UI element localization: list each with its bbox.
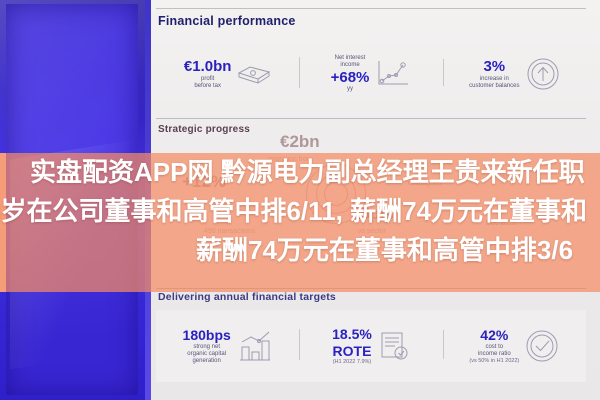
metric-label-2: income ratio [469,351,519,358]
metric-value: €1.0bn [184,58,232,76]
banknotes-icon [237,62,271,86]
metric-row-annual: 180bps strong net organic capital genera… [156,310,586,382]
metric-text: 18.5% ROTE (H1 2022 7.9%) [332,326,372,366]
metric-value: 180bps [183,327,231,344]
metric-value-2: ROTE [332,343,372,360]
metric-text: 180bps strong net organic capital genera… [183,327,231,365]
report-icon [378,330,410,362]
metric-net-interest-income: Net interest income +68% yy [299,55,442,94]
metric-label-2: customer balances [469,83,519,90]
line-chart-icon [375,59,411,89]
metric-note: (H1 2022 7.9%) [332,359,372,365]
metric-label-2: organic capital [183,351,231,358]
metric-label-1: strong net [183,344,231,351]
section-title-annual-targets: Delivering annual financial targets [158,291,336,303]
metric-note: (vs 50% in H1 2022) [469,358,519,364]
metric-value: 3% [469,58,519,76]
check-circle-icon [525,329,559,363]
metric-label-1: profit [184,76,232,83]
metric-value: 42% [469,327,519,344]
up-arrow-circle-icon [526,57,560,91]
ghost-value-1: €2bn [280,132,320,152]
section-title-financial-performance: Financial performance [158,14,296,28]
bar-chart-icon [237,329,273,363]
metric-pre-1: Net interest [331,55,370,62]
section-rule [156,8,586,9]
metric-row-financial: €1.0bn profit before tax [156,46,586,102]
section-annual-targets: Delivering annual financial targets 180b… [156,288,590,392]
metric-label-1: cost to [469,344,519,351]
headline-line-3: 薪酬74万元在董事和高管中排3/6 [196,237,573,263]
screenshot-root: Financial performance €1.0bn profit befo… [0,0,600,400]
metric-profit-before-tax: €1.0bn profit before tax [156,58,299,90]
metric-label-3: generation [183,358,231,365]
metric-label-1: yy [331,86,370,93]
watermark-headline: 实盘配资APP网 黔源电力副总经理王贵来新任职 8岁在公司董事和高管中排6/11… [0,153,600,292]
section-financial-performance: Financial performance €1.0bn profit befo… [156,8,590,108]
metric-label-2: before tax [184,83,232,90]
metric-text: 42% cost to income ratio (vs 50% in H1 2… [469,327,519,364]
metric-value: +68% [331,69,370,87]
metric-label-1: increase in [469,76,519,83]
headline-line-2: 8岁在公司董事和高管中排6/11, 薪酬74万元在董事和 [0,198,587,224]
metric-organic-capital: 180bps strong net organic capital genera… [156,327,299,365]
metric-text: 3% increase in customer balances [469,58,519,90]
headline-line-1: 实盘配资APP网 黔源电力副总经理王贵来新任职 [30,159,585,185]
metric-value: 18.5% [332,326,372,343]
metric-cost-to-income: 42% cost to income ratio (vs 50% in H1 2… [443,327,586,364]
metric-pre-2: income [331,62,370,69]
metric-rote: 18.5% ROTE (H1 2022 7.9%) [299,326,442,366]
section-rule [156,118,586,119]
metric-text: €1.0bn profit before tax [184,58,232,90]
metric-text: Net interest income +68% yy [331,55,370,94]
metric-customer-balances: 3% increase in customer balances [443,57,586,91]
